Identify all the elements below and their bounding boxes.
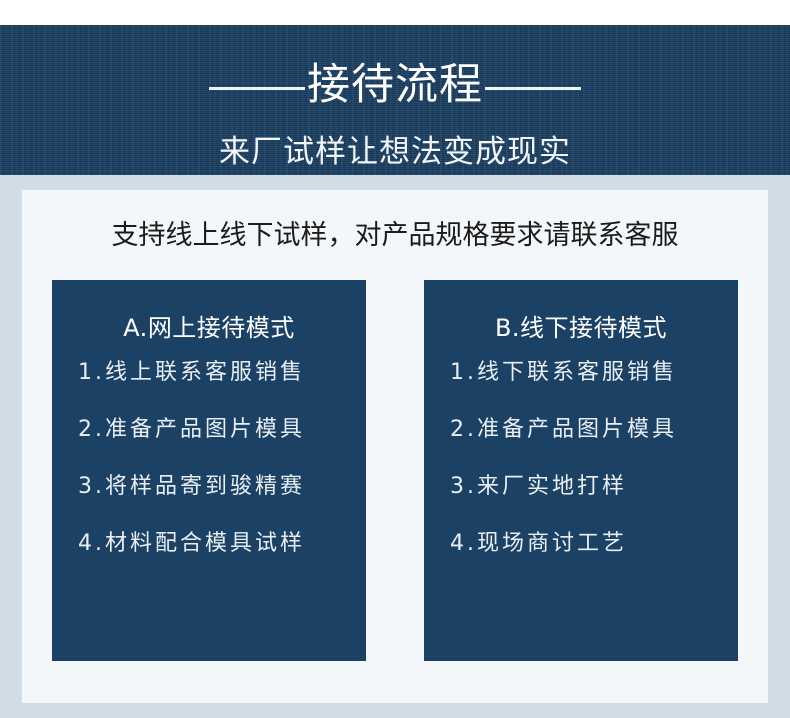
page-title: 接待流程 [305, 64, 485, 107]
horizontal-rule-left-icon [209, 87, 305, 90]
card-title: A.网上接待模式 [123, 312, 295, 344]
card-step-list: 1.线上联系客服销售 2.准备产品图片模具 3.将样品寄到骏精赛 4.材料配合模… [52, 358, 366, 559]
card-step-list: 1.线下联系客服销售 2.准备产品图片模具 3.来厂实地打样 4.现场商讨工艺 [424, 358, 738, 559]
panel-heading: 支持线上线下试样，对产品规格要求请联系客服 [22, 218, 768, 254]
list-item: 2.准备产品图片模具 [52, 415, 366, 445]
list-item: 3.将样品寄到骏精赛 [52, 472, 366, 502]
card-online-reception: A.网上接待模式 1.线上联系客服销售 2.准备产品图片模具 3.将样品寄到骏精… [52, 280, 366, 661]
content-panel: 支持线上线下试样，对产品规格要求请联系客服 A.网上接待模式 1.线上联系客服销… [22, 190, 768, 703]
card-title: B.线下接待模式 [495, 312, 667, 344]
page-root: 接待流程 来厂试样让想法变成现实 支持线上线下试样，对产品规格要求请联系客服 A… [0, 0, 790, 718]
list-item: 4.现场商讨工艺 [424, 529, 738, 559]
header-title-row: 接待流程 [0, 57, 790, 119]
page-subtitle: 来厂试样让想法变成现实 [0, 132, 790, 172]
list-item: 4.材料配合模具试样 [52, 529, 366, 559]
list-item: 2.准备产品图片模具 [424, 415, 738, 445]
cards-container: A.网上接待模式 1.线上联系客服销售 2.准备产品图片模具 3.将样品寄到骏精… [52, 280, 738, 661]
list-item: 1.线下联系客服销售 [424, 358, 738, 388]
list-item: 1.线上联系客服销售 [52, 358, 366, 388]
horizontal-rule-right-icon [485, 87, 581, 90]
list-item: 3.来厂实地打样 [424, 472, 738, 502]
card-offline-reception: B.线下接待模式 1.线下联系客服销售 2.准备产品图片模具 3.来厂实地打样 … [424, 280, 738, 661]
header-banner: 接待流程 来厂试样让想法变成现实 [0, 25, 790, 175]
